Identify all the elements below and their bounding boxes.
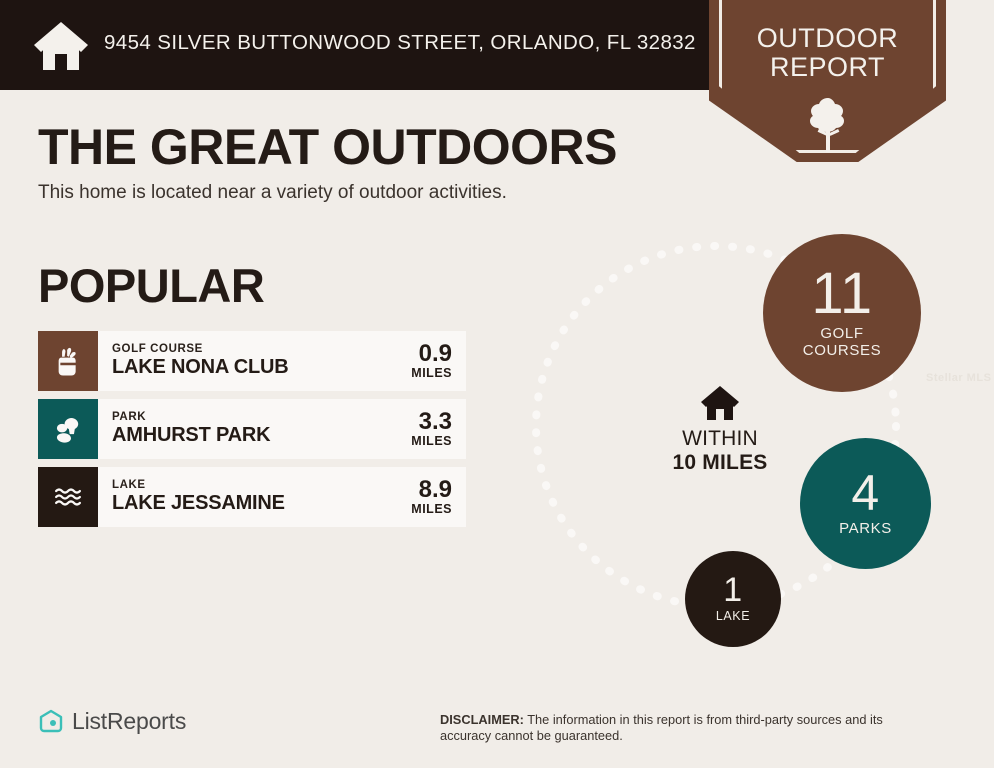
disclaimer-label: DISCLAIMER: xyxy=(440,712,524,727)
bubble-golf-courses: 11 GOLF COURSES xyxy=(763,234,921,392)
bubble-label: GOLF COURSES xyxy=(803,325,881,359)
bubble-label: LAKE xyxy=(716,608,750,625)
bubble-count: 11 xyxy=(811,267,872,321)
bubble-count: 4 xyxy=(851,470,879,516)
distance-unit: MILES xyxy=(411,502,452,516)
outdoor-report-page: 9454 SILVER BUTTONWOOD STREET, ORLANDO, … xyxy=(0,0,994,768)
center-label-line2: 10 MILES xyxy=(665,451,775,475)
page-title: THE GREAT OUTDOORS xyxy=(38,118,617,176)
popular-heading: POPULAR xyxy=(38,258,264,313)
property-address: 9454 SILVER BUTTONWOOD STREET, ORLANDO, … xyxy=(104,31,696,55)
home-icon xyxy=(700,385,740,421)
list-item-name: AMHURST PARK xyxy=(112,424,411,447)
bubble-count: 1 xyxy=(723,574,742,606)
listreports-logo[interactable]: ListReports xyxy=(38,708,186,735)
list-item-text: PARK AMHURST PARK xyxy=(98,411,411,447)
list-item-distance: 3.3 MILES xyxy=(411,410,466,448)
golf-bag-icon xyxy=(38,331,98,391)
list-item-category: GOLF COURSE xyxy=(112,343,411,356)
disclaimer: DISCLAIMER: The information in this repo… xyxy=(440,712,920,744)
bubble-label-line2: COURSES xyxy=(803,342,881,359)
listreports-logo-text: ListReports xyxy=(72,708,186,735)
list-item[interactable]: LAKE LAKE JESSAMINE 8.9 MILES xyxy=(38,467,466,527)
list-item-distance: 8.9 MILES xyxy=(411,478,466,516)
popular-list: GOLF COURSE LAKE NONA CLUB 0.9 MILES PAR… xyxy=(38,331,466,535)
diagram-center: WITHIN 10 MILES xyxy=(665,385,775,475)
list-item[interactable]: GOLF COURSE LAKE NONA CLUB 0.9 MILES xyxy=(38,331,466,391)
distance-value: 8.9 xyxy=(411,478,452,502)
bubble-label: PARKS xyxy=(839,520,892,537)
distance-value: 0.9 xyxy=(411,342,452,366)
list-item[interactable]: PARK AMHURST PARK 3.3 MILES xyxy=(38,399,466,459)
distance-unit: MILES xyxy=(411,434,452,448)
center-label-line1: WITHIN xyxy=(665,427,775,451)
list-item-category: PARK xyxy=(112,411,411,424)
outdoor-report-badge: OUTDOOR REPORT xyxy=(709,0,946,162)
list-item-name: LAKE JESSAMINE xyxy=(112,492,411,515)
badge-title: OUTDOOR REPORT xyxy=(709,24,946,82)
water-waves-icon xyxy=(38,467,98,527)
header-bar: 9454 SILVER BUTTONWOOD STREET, ORLANDO, … xyxy=(0,0,709,90)
badge-title-line1: OUTDOOR xyxy=(709,24,946,53)
park-trees-icon xyxy=(38,399,98,459)
list-item-text: GOLF COURSE LAKE NONA CLUB xyxy=(98,343,411,379)
bubble-lake: 1 LAKE xyxy=(685,551,781,647)
mls-watermark: Stellar MLS xyxy=(926,372,991,384)
bubble-parks: 4 PARKS xyxy=(800,438,931,569)
list-item-distance: 0.9 MILES xyxy=(411,342,466,380)
list-item-name: LAKE NONA CLUB xyxy=(112,356,411,379)
page-subtitle: This home is located near a variety of o… xyxy=(38,182,507,204)
list-item-category: LAKE xyxy=(112,479,411,492)
home-icon xyxy=(32,20,90,72)
tree-icon xyxy=(804,96,852,152)
listreports-logo-icon xyxy=(38,709,64,735)
distance-value: 3.3 xyxy=(411,410,452,434)
list-item-text: LAKE LAKE JESSAMINE xyxy=(98,479,411,515)
within-10-miles-diagram: 11 GOLF COURSES 4 PARKS 1 LAKE WITHIN 10… xyxy=(500,215,994,685)
distance-unit: MILES xyxy=(411,366,452,380)
bubble-label-line1: GOLF xyxy=(803,325,881,342)
badge-title-line2: REPORT xyxy=(709,53,946,82)
